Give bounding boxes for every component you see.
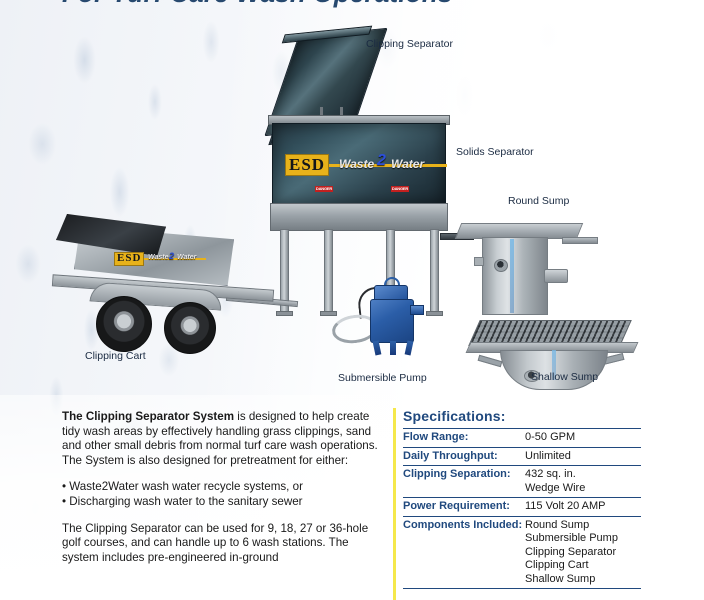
spec-value-components-included: Round Sump Submersible Pump Clipping Sep… bbox=[525, 516, 641, 589]
callout-clipping-cart: Clipping Cart bbox=[85, 350, 146, 362]
table-row: Power Requirement: 115 Volt 20 AMP bbox=[403, 498, 641, 517]
clipping-cart-image: ESD Waste 2 Water bbox=[44, 208, 294, 368]
separator-tank-shape: ESD Waste 2 Water DANGER DANGER bbox=[272, 123, 446, 205]
spec-value-line: Shallow Sump bbox=[525, 573, 641, 587]
vertical-divider bbox=[393, 408, 396, 600]
spec-label-clipping-separation: Clipping Separation: bbox=[403, 466, 525, 498]
spec-value-line: Round Sump bbox=[525, 519, 641, 533]
body-copy: The Clipping Separator System is designe… bbox=[62, 410, 384, 565]
round-sump-cylinder-shape bbox=[482, 237, 548, 315]
product-photo-stage: Clipping Separator ESD Waste 2 Water DAN… bbox=[0, 20, 704, 395]
spec-label-daily-throughput: Daily Throughput: bbox=[403, 447, 525, 466]
pump-discharge-port-shape bbox=[410, 305, 424, 315]
danger-sticker: DANGER bbox=[315, 186, 333, 192]
callout-submersible-pump: Submersible Pump bbox=[338, 372, 427, 384]
cart-wheel-shape bbox=[164, 302, 216, 354]
esd-logo-mark: ESD bbox=[114, 252, 144, 266]
spec-label-power-requirement: Power Requirement: bbox=[403, 498, 525, 517]
pump-leg-shape bbox=[405, 341, 414, 356]
round-sump-arm-right-shape bbox=[562, 237, 598, 244]
cart-wheel-shape bbox=[96, 296, 152, 352]
content-area: The Clipping Separator System is designe… bbox=[0, 400, 704, 600]
table-row: Clipping Separation: 432 sq. in. Wedge W… bbox=[403, 466, 641, 498]
spec-value-line: Clipping Cart bbox=[525, 559, 641, 573]
spec-value-line: Unlimited bbox=[525, 450, 641, 464]
separator-frame-shape bbox=[270, 203, 448, 231]
spec-value-clipping-separation: 432 sq. in. Wedge Wire bbox=[525, 466, 641, 498]
intro-paragraph: The Clipping Separator System is designe… bbox=[62, 410, 384, 468]
pump-body-shape bbox=[370, 299, 414, 343]
table-row: Flow Range: 0-50 GPM bbox=[403, 429, 641, 448]
submersible-pump-image bbox=[330, 275, 440, 375]
spec-value-power-requirement: 115 Volt 20 AMP bbox=[525, 498, 641, 517]
round-sump-outlet-port-shape bbox=[544, 269, 568, 283]
specifications-title: Specifications: bbox=[403, 408, 655, 424]
spec-label-flow-range: Flow Range: bbox=[403, 429, 525, 448]
round-sump-inlet-port-shape bbox=[494, 259, 508, 272]
spec-value-line: Wedge Wire bbox=[525, 482, 641, 496]
spec-value-line: 432 sq. in. bbox=[525, 468, 641, 482]
esd-logo-word-mid: 2 bbox=[377, 152, 386, 170]
spec-value-line: 0-50 GPM bbox=[525, 431, 641, 445]
spec-value-line: Submersible Pump bbox=[525, 532, 641, 546]
callout-clipping-separator: Clipping Separator bbox=[366, 38, 453, 50]
spec-label-components-included: Components Included: bbox=[403, 516, 525, 589]
spec-value-line: 115 Volt 20 AMP bbox=[525, 500, 641, 514]
esd-logo-mark: ESD bbox=[285, 154, 329, 176]
table-row: Daily Throughput: Unlimited bbox=[403, 447, 641, 466]
intro-paragraph-lead: The Clipping Separator System bbox=[62, 410, 234, 423]
specifications-table: Flow Range: 0-50 GPM Daily Throughput: U… bbox=[403, 428, 641, 589]
callout-solids-separator: Solids Separator bbox=[456, 146, 534, 158]
esd-logo-word-left: Waste bbox=[339, 157, 374, 171]
esd-logo-word-right: Water bbox=[177, 254, 196, 261]
pump-leg-shape bbox=[390, 341, 396, 355]
spec-value-line: Clipping Separator bbox=[525, 546, 641, 560]
bullet-list: • Waste2Water wash water recycle systems… bbox=[62, 480, 384, 509]
specifications-panel: Specifications: Flow Range: 0-50 GPM Dai… bbox=[403, 408, 655, 589]
usage-paragraph: The Clipping Separator can be used for 9… bbox=[62, 522, 384, 566]
esd-logo-word-mid: 2 bbox=[169, 251, 174, 261]
list-item: • Discharging wash water to the sanitary… bbox=[62, 495, 384, 510]
list-item: • Waste2Water wash water recycle systems… bbox=[62, 480, 384, 495]
round-sump-tab-shape bbox=[474, 257, 484, 266]
callout-shallow-sump: Shallow Sump bbox=[531, 371, 598, 383]
esd-logo-word-right: Water bbox=[391, 157, 424, 171]
esd-logo-word-left: Waste bbox=[148, 254, 169, 261]
brochure-page: For Turf Care Wash Operations Clipping S… bbox=[0, 0, 704, 600]
callout-round-sump: Round Sump bbox=[508, 195, 569, 207]
page-title: For Turf Care Wash Operations bbox=[62, 0, 453, 9]
spec-value-flow-range: 0-50 GPM bbox=[525, 429, 641, 448]
round-sump-weld-seam-shape bbox=[510, 239, 514, 313]
table-row: Components Included: Round Sump Submersi… bbox=[403, 516, 641, 589]
spec-value-daily-throughput: Unlimited bbox=[525, 447, 641, 466]
danger-sticker: DANGER bbox=[391, 186, 409, 192]
shallow-sump-clip-left-shape bbox=[478, 355, 503, 367]
